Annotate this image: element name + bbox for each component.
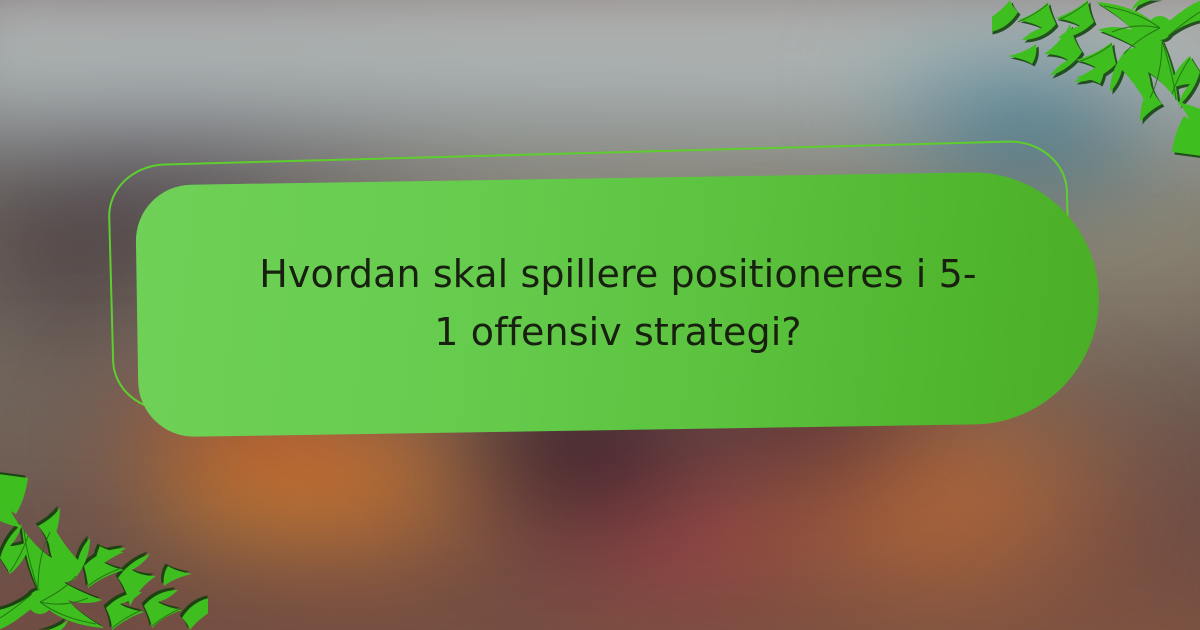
- background-maroon-mass: [0, 0, 1200, 630]
- question-card-banner: Hvordan skal spillere positioneres i 5-1…: [0, 0, 1200, 630]
- background-photo: [0, 0, 1200, 630]
